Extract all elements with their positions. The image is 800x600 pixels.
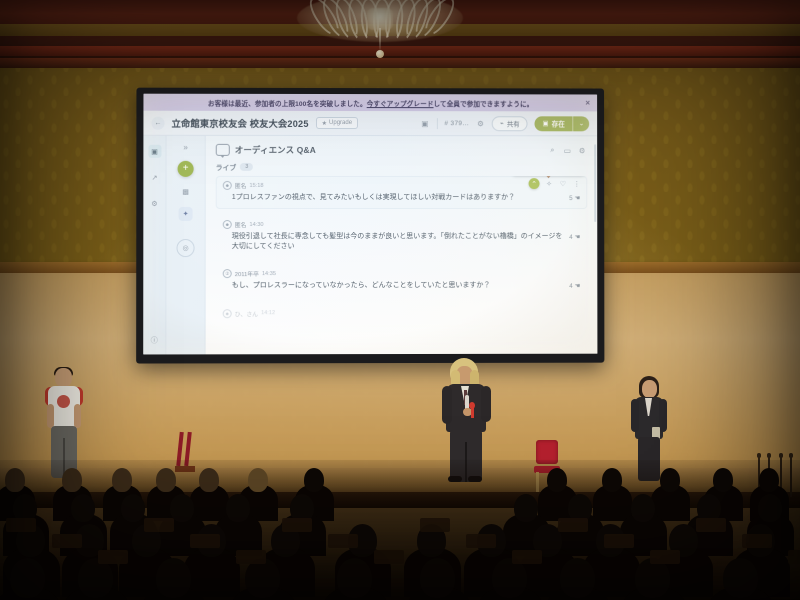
record-indicator-icon[interactable]: ◎	[176, 239, 194, 257]
qa-tabs: ライブ 3	[206, 156, 598, 176]
chevron-down-icon[interactable]: ⌄	[573, 116, 589, 131]
left-nav-rail: ▣ ↗ ⚙ ⓘ	[143, 136, 166, 355]
question-item[interactable]: ☻ ひ、さん 14:12	[216, 303, 588, 326]
audience-head	[759, 468, 779, 492]
question-meta: ☻ 匿名 15:18	[223, 181, 581, 190]
poll-block-icon[interactable]: ▩	[179, 185, 193, 199]
vote-number: 4	[569, 283, 572, 290]
audience-head	[248, 468, 268, 492]
event-code[interactable]: # 379…	[444, 120, 469, 127]
mark-answered-button[interactable]: ⌃	[529, 178, 540, 189]
audience-head	[156, 468, 176, 492]
audience-head	[514, 494, 538, 522]
seat-back	[236, 550, 266, 564]
vote-count[interactable]: 4 ☚	[569, 281, 580, 290]
avatar: ☻	[223, 220, 232, 229]
audience-head	[62, 468, 82, 492]
list-fade	[206, 332, 598, 355]
seat-back	[328, 534, 358, 548]
search-icon[interactable]: ⌕	[547, 145, 557, 155]
qa-panel: オーディエンス Q&A ⌕ ▭ ⚙ ライブ 3	[206, 136, 598, 355]
close-icon[interactable]: ×	[585, 99, 590, 107]
seat-back	[282, 518, 312, 532]
save-button-group: ▣ 存在 ⌄	[535, 116, 590, 131]
audience-head	[602, 468, 622, 492]
question-item[interactable]: ☻ 匿名 14:30 現役引退して社長に専念しても髪型は今のままが良いと思います…	[216, 215, 588, 258]
crystal-chandelier-icon	[297, 0, 463, 66]
audience-head	[5, 468, 25, 492]
seat-back	[696, 518, 726, 532]
audience-head	[226, 494, 250, 522]
audience-head	[199, 468, 219, 492]
qa-settings-icon[interactable]: ⚙	[577, 145, 587, 155]
share-icon: ⌁	[500, 119, 504, 127]
share-button[interactable]: ⌁ 共有	[492, 116, 527, 131]
seat-back	[144, 518, 174, 532]
seat-back	[788, 550, 800, 564]
scrollbar[interactable]	[594, 144, 596, 222]
seat-back	[466, 534, 496, 548]
seat-back	[604, 534, 634, 548]
seat-back	[98, 550, 128, 564]
audience-head	[78, 558, 113, 598]
save-button[interactable]: ▣ 存在	[535, 116, 573, 131]
question-text: 1プロレスファンの視点で、見てみたいもしくは実現してほしい対戦カードはありますか…	[223, 193, 563, 203]
tab-live-count: 3	[240, 163, 253, 171]
page-title: 立命館東京校友会 校友大会2025	[172, 116, 309, 130]
audience-head	[660, 468, 680, 492]
question-text: もし、プロレスラーになっていなかったら、どんなことをしていたと思いますか？	[223, 281, 564, 291]
projection-screen: お客様は最近、参加者の上限100名を突破しました。今すぐアップグレードして全員で…	[136, 88, 604, 364]
audience-head	[156, 558, 191, 598]
audience-head	[121, 494, 145, 522]
share-button-label: 共有	[507, 119, 520, 128]
qa-title: オーディエンス Q&A	[235, 144, 316, 156]
seat-back	[190, 534, 220, 548]
ai-suggest-icon[interactable]: ✦	[179, 207, 193, 221]
avatar: ☻	[223, 309, 232, 318]
collapse-panel-icon[interactable]: »	[183, 143, 187, 153]
star-icon[interactable]: ✧	[545, 179, 554, 188]
thumbs-up-icon: ☚	[575, 282, 581, 290]
vote-count[interactable]: 4 ☚	[569, 232, 580, 241]
audience-head	[631, 494, 655, 522]
gear-icon[interactable]: ⚙	[476, 119, 485, 128]
question-author: ひ、さん	[235, 309, 258, 318]
polls-icon[interactable]: ▣	[148, 145, 161, 158]
slido-app: お客様は最近、参加者の上限100名を突破しました。今すぐアップグレードして全員で…	[143, 94, 597, 355]
save-icon: ▣	[543, 119, 549, 127]
more-icon[interactable]: ⋮	[572, 179, 581, 188]
seat-back	[742, 534, 772, 548]
audience	[0, 460, 800, 600]
banner-text-before: お客様は最近、参加者の上限100名を突破しました。	[208, 97, 367, 107]
audience-head	[635, 558, 670, 598]
seat-back	[52, 534, 82, 548]
audience-head	[71, 494, 95, 522]
question-time: 14:12	[261, 310, 275, 316]
question-item[interactable]: ② 2011年卒 14:35 もし、プロレスラーになっていなかったら、どんなこと…	[216, 264, 588, 297]
audience-head	[337, 558, 372, 598]
seat-back	[512, 550, 542, 564]
speech-bubble-icon	[216, 144, 230, 156]
question-author: 匿名	[235, 220, 247, 229]
audience-head	[112, 468, 132, 492]
upgrade-banner: お客様は最近、参加者の上限100名を突破しました。今すぐアップグレードして全員で…	[143, 94, 597, 112]
question-author: 匿名	[235, 181, 247, 190]
avatar: ☻	[223, 181, 232, 190]
app-body: ▣ ↗ ⚙ ⓘ » + ▩ ✦ ◎	[143, 136, 597, 355]
seat-back	[6, 518, 36, 532]
back-arrow-icon[interactable]: ←	[151, 116, 164, 129]
thumbs-up-icon: ☚	[575, 233, 581, 241]
seat-back	[374, 550, 404, 564]
upgrade-button-label: Upgrade	[329, 120, 352, 126]
seat-back	[420, 518, 450, 532]
banner-upgrade-link[interactable]: 今すぐアップグレード	[367, 98, 434, 108]
qa-header: オーディエンス Q&A ⌕ ▭ ⚙	[206, 136, 597, 156]
present-mode-icon[interactable]: ▣	[420, 119, 429, 128]
audience-head	[10, 558, 45, 598]
question-meta: ② 2011年卒 14:35	[223, 269, 581, 278]
vote-count[interactable]: 5 ☚	[569, 193, 580, 202]
question-time: 14:30	[249, 222, 263, 228]
reply-icon[interactable]: ♡	[558, 179, 567, 188]
content-rail: » + ▩ ✦ ◎	[166, 136, 205, 355]
question-text: 現役引退して社長に専念しても髪型は今のままが良いと思います。「倒れたことがない櫓…	[223, 232, 563, 252]
help-icon[interactable]: ⓘ	[148, 333, 161, 346]
upgrade-button[interactable]: ★ Upgrade	[316, 117, 358, 129]
audience-head	[492, 558, 527, 598]
audience-head	[758, 494, 782, 522]
seat-back	[650, 550, 680, 564]
question-list: 回答済みとしてマーク ⌃ ✧ ♡ ⋮ ☻ 匿名	[206, 176, 598, 354]
audience-head	[560, 558, 595, 598]
audience-head	[723, 558, 758, 598]
save-button-label: 存在	[552, 118, 565, 128]
analytics-icon[interactable]: ↗	[148, 171, 161, 184]
header-divider	[436, 118, 437, 129]
seat-back	[558, 518, 588, 532]
banner-text-after: して全員で参加できますように。	[434, 98, 534, 108]
add-content-button[interactable]: +	[178, 161, 194, 177]
question-item[interactable]: 回答済みとしてマーク ⌃ ✧ ♡ ⋮ ☻ 匿名	[216, 176, 588, 209]
star-icon: ★	[322, 119, 327, 126]
audience-head	[304, 468, 324, 492]
audience-head	[420, 558, 455, 598]
vote-number: 5	[569, 195, 572, 202]
question-actions: ⌃ ✧ ♡ ⋮	[529, 178, 582, 189]
question-author: 2011年卒	[235, 269, 259, 278]
app-header: ← 立命館東京校友会 校友大会2025 ★ Upgrade ▣ # 379… ⚙…	[143, 111, 597, 137]
tab-live[interactable]: ライブ	[216, 162, 236, 172]
question-time: 14:35	[262, 271, 276, 277]
question-time: 15:18	[249, 182, 263, 188]
thumbs-up-icon: ☚	[575, 194, 581, 202]
auditorium-scene: お客様は最近、参加者の上限100名を突破しました。今すぐアップグレードして全員で…	[0, 0, 800, 600]
vote-number: 4	[569, 234, 572, 241]
audience-head	[713, 468, 733, 492]
avatar: ②	[223, 270, 232, 279]
question-meta: ☻ 匿名 14:30	[223, 220, 581, 229]
settings-icon[interactable]: ⚙	[148, 197, 161, 210]
archive-icon[interactable]: ▭	[562, 145, 572, 155]
question-meta: ☻ ひ、さん 14:12	[223, 308, 581, 317]
audience-head	[547, 468, 567, 492]
audience-head	[245, 558, 280, 598]
